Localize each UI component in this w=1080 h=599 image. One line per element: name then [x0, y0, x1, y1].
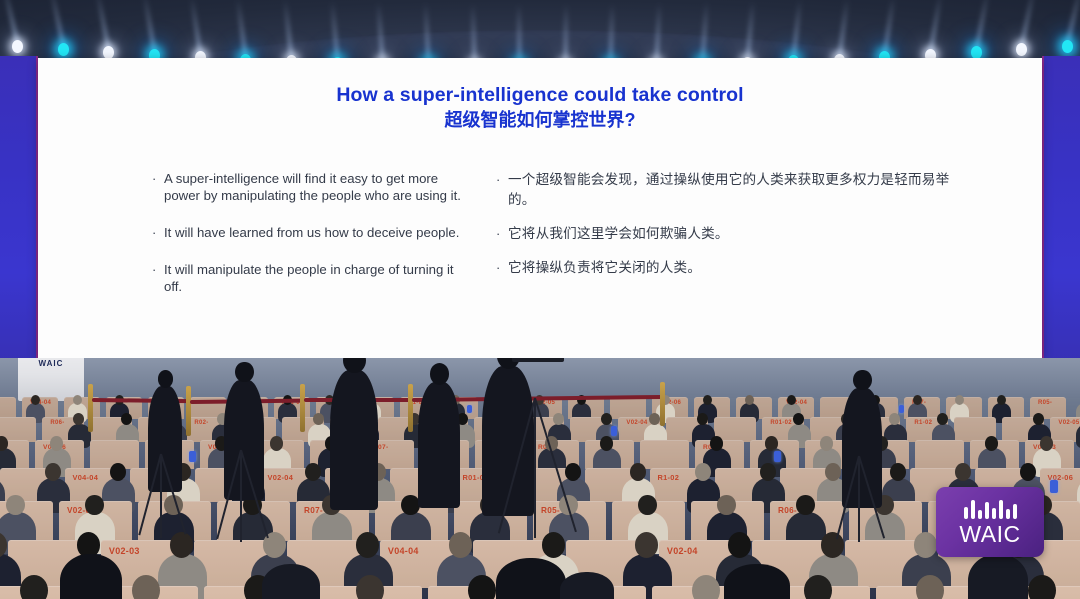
auditorium-floor: ı'ı'ı'ı WAIC V04-04V02-04R01-02R1-02V02-…: [0, 358, 1080, 599]
audience-head: [468, 575, 496, 599]
audience-head: [305, 463, 321, 481]
bullet-text: A super-intelligence will find it easy t…: [164, 170, 474, 204]
ceiling-lamp: [1062, 40, 1073, 53]
audience-head: [635, 532, 658, 557]
audience-head: [170, 532, 193, 557]
slide: How a super-intelligence could take cont…: [38, 58, 1042, 358]
seat-label: R02-: [194, 420, 208, 426]
audience-head: [692, 575, 720, 599]
list-item: · 它将操纵负责将它关闭的人类。: [496, 258, 952, 278]
bullet-text: 一个超级智能会发现，通过操纵使用它的人类来获取更多权力是轻而易举的。: [508, 170, 952, 210]
light-beam: [882, 0, 896, 56]
seat: [0, 397, 16, 419]
audience-head: [914, 532, 937, 557]
smartphone-screen: [899, 405, 904, 413]
audience-head: [1028, 575, 1056, 599]
light-beam: [974, 0, 990, 51]
seat-label: R06-: [50, 420, 64, 426]
list-item: · A super-intelligence will find it easy…: [152, 170, 474, 204]
podium-logo-text: WAIC: [39, 359, 64, 368]
audience-head: [110, 463, 126, 481]
photographer-silhouette: [224, 380, 264, 500]
audience-head: [356, 532, 379, 557]
light-beam: [1065, 0, 1080, 45]
tripod-leg: [160, 454, 162, 538]
photographer-silhouette: [418, 382, 460, 508]
foreground-head: [968, 554, 1028, 599]
light-beam: [2, 0, 20, 45]
ceiling-lamp: [1016, 43, 1027, 56]
audience-head: [913, 395, 922, 405]
audience-head: [955, 463, 971, 481]
audience-head: [825, 463, 841, 481]
audience-head: [717, 495, 736, 516]
foreground-head: [60, 554, 122, 599]
audience-head: [890, 463, 906, 481]
audience-head: [765, 436, 778, 450]
conference-hall-photo: How a super-intelligence could take cont…: [0, 0, 1080, 599]
light-beam: [95, 0, 111, 51]
seat-label: V02-03: [109, 546, 140, 556]
smartphone-screen: [611, 426, 617, 435]
crew-head: [853, 370, 871, 391]
light-beam: [517, 4, 523, 64]
audience-head: [695, 463, 711, 481]
audience-head: [1040, 436, 1053, 450]
bullet-text: It will manipulate the people in charge …: [164, 261, 474, 295]
audience-head: [449, 532, 472, 557]
ceiling-lamp: [12, 40, 23, 53]
audience-head: [703, 395, 712, 405]
crew-head: [430, 363, 449, 385]
foreground-head: [724, 564, 790, 599]
waic-logo-marks-icon: [964, 499, 1017, 519]
stanchion-post: [300, 384, 305, 432]
list-item: · It will manipulate the people in charg…: [152, 261, 474, 295]
list-item: · It will have learned from us how to de…: [152, 224, 474, 241]
seat: [610, 397, 646, 419]
bullet-text: 它将从我们这里学会如何欺骗人类。: [508, 224, 729, 244]
audience-head: [985, 436, 998, 450]
light-beam: [928, 0, 943, 53]
audience-head: [796, 495, 815, 516]
audience-head: [132, 575, 160, 599]
tripod-leg: [858, 456, 860, 542]
bullet-marker-icon: ·: [496, 170, 508, 190]
bullet-column-chinese: · 一个超级智能会发现，通过操纵使用它的人类来获取更多权力是轻而易举的。 · 它…: [482, 170, 952, 315]
audience-head: [820, 436, 833, 450]
stanchion-post: [660, 382, 665, 426]
bullet-text: 它将操纵负责将它关闭的人类。: [508, 258, 701, 278]
audience-head: [45, 463, 61, 481]
audience-head: [760, 463, 776, 481]
bullet-column-english: · A super-intelligence will find it easy…: [72, 170, 474, 315]
seat-label: V04-04: [73, 473, 99, 482]
audience-head: [638, 495, 657, 516]
light-beam: [189, 0, 203, 56]
light-beam: [1019, 0, 1036, 48]
audience-head: [821, 532, 844, 557]
foreground-head: [262, 564, 320, 599]
bullet-marker-icon: ·: [152, 261, 164, 278]
audience-head: [401, 495, 420, 516]
audience-head: [85, 495, 104, 516]
foreground-head: [496, 558, 566, 599]
audience-head: [356, 575, 384, 599]
seat-label: V02-05: [1058, 420, 1079, 426]
audience-head: [73, 395, 82, 405]
smartphone-screen: [1050, 480, 1059, 494]
seat-label: R1-02: [914, 420, 932, 426]
seat-label: V02-04: [626, 420, 647, 426]
broadcast-camera: [512, 358, 564, 362]
audience-head: [542, 532, 565, 557]
audience-head: [787, 395, 796, 405]
smartphone-screen: [189, 451, 196, 463]
seat-label: R05-: [1038, 400, 1052, 406]
waic-watermark-logo: WAIC: [936, 487, 1044, 557]
audience-head: [565, 463, 581, 481]
audience-head: [50, 436, 63, 450]
seat-label: V02-04: [667, 546, 698, 556]
podium-waic-logo: ı'ı'ı'ı WAIC: [8, 358, 94, 368]
ceiling-lamp: [58, 43, 69, 56]
tripod-leg: [240, 450, 242, 542]
photographer-silhouette: [330, 370, 378, 510]
audience-head: [916, 575, 944, 599]
crew-head: [235, 362, 253, 383]
audience-head: [710, 436, 723, 450]
audience-head: [745, 395, 754, 405]
side-panel-left: [0, 56, 38, 366]
audience-head: [728, 532, 751, 557]
seat-label: V04-04: [388, 546, 419, 556]
stanchion-post: [408, 384, 413, 432]
light-beam: [48, 0, 65, 48]
audience-head: [20, 575, 48, 599]
side-panel-right: [1042, 56, 1080, 366]
audience-head: [630, 463, 646, 481]
audience-head: [955, 395, 964, 405]
foreground-head: [560, 572, 614, 599]
list-item: · 它将从我们这里学会如何欺骗人类。: [496, 224, 952, 244]
audience-head: [997, 395, 1006, 405]
smartphone-screen: [467, 405, 472, 413]
bullet-marker-icon: ·: [152, 170, 164, 187]
main-tripod-leg: [534, 398, 536, 538]
light-beam: [470, 4, 477, 64]
slide-title-en: How a super-intelligence could take cont…: [72, 84, 1008, 107]
waic-logo-text: WAIC: [959, 523, 1020, 546]
stanchion-post: [88, 384, 93, 432]
audience-head: [804, 575, 832, 599]
audience-head: [6, 495, 25, 516]
seat: [640, 440, 689, 469]
bullet-marker-icon: ·: [496, 224, 508, 244]
smartphone-screen: [774, 451, 781, 463]
audience-head: [31, 395, 40, 405]
seat-label: V02-04: [268, 473, 294, 482]
seat-label: R01-02: [770, 420, 791, 426]
light-beam: [142, 0, 157, 53]
audience-head: [1020, 463, 1036, 481]
audience-head: [270, 436, 283, 450]
seat-label: R1-02: [658, 473, 680, 482]
bullet-marker-icon: ·: [496, 258, 508, 278]
stanchion-post: [186, 386, 191, 436]
light-beam: [563, 4, 569, 64]
list-item: · 一个超级智能会发现，通过操纵使用它的人类来获取更多权力是轻而易举的。: [496, 170, 952, 210]
bullet-marker-icon: ·: [152, 224, 164, 241]
slide-title-zh: 超级智能如何掌控世界?: [72, 110, 1008, 132]
audience-head: [600, 436, 613, 450]
bullet-text: It will have learned from us how to dece…: [164, 224, 459, 241]
crew-head: [158, 370, 174, 388]
slide-body: · A super-intelligence will find it easy…: [72, 170, 1008, 315]
projection-screen: How a super-intelligence could take cont…: [38, 58, 1042, 358]
